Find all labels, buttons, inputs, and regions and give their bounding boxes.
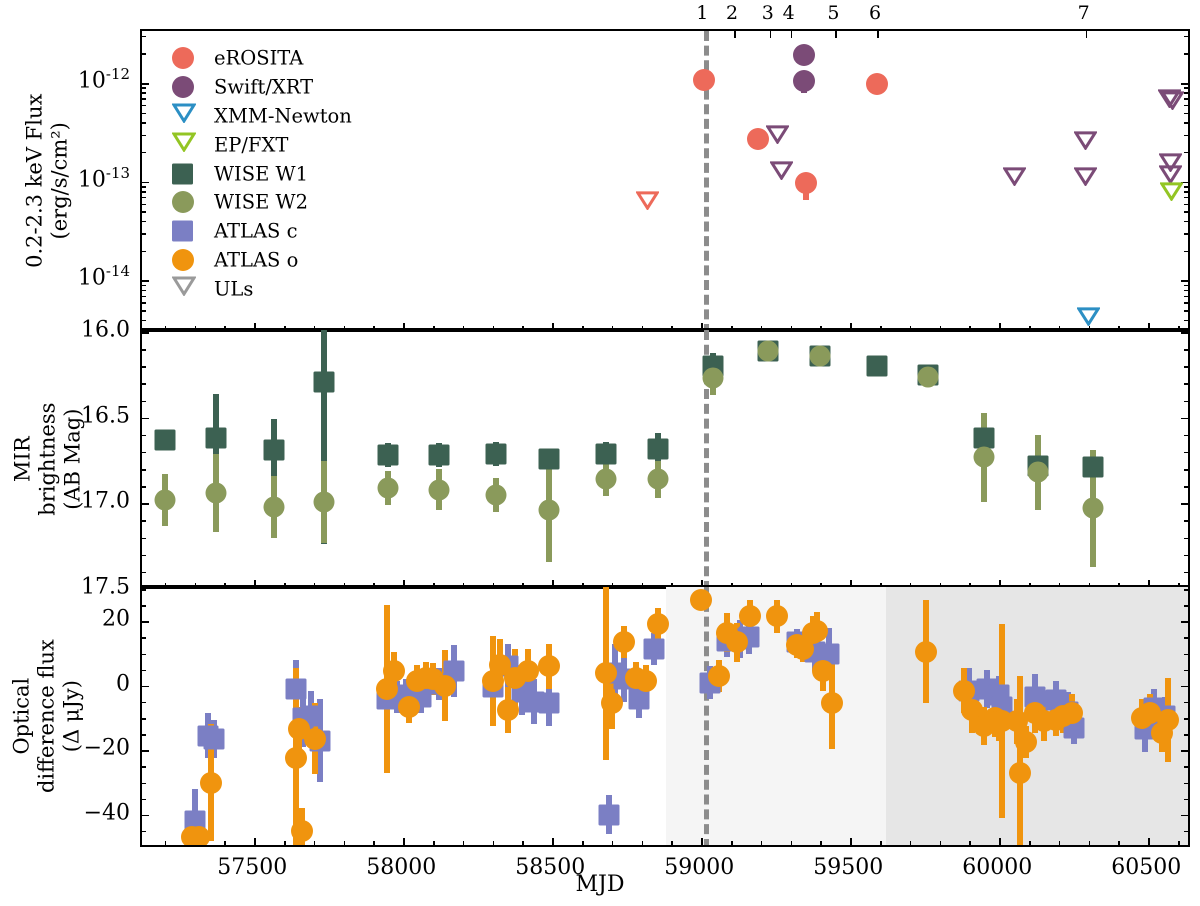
axis-tick (1148, 838, 1150, 845)
axis-tick (142, 113, 146, 115)
axis-tick (142, 36, 146, 38)
triangle-down-icon (172, 276, 198, 302)
axis-tick (142, 686, 149, 688)
axis-tick (1181, 686, 1188, 688)
axis-tick (770, 31, 772, 38)
wise-w1-data-point (648, 438, 669, 459)
axis-tick (142, 87, 146, 89)
axis-tick (1184, 637, 1188, 639)
xaxis-tick-label: 59500 (813, 855, 883, 880)
axis-tick (1184, 783, 1188, 785)
axis-tick (1184, 36, 1188, 38)
axis-tick (142, 435, 146, 437)
axis-tick (1184, 486, 1188, 488)
epoch-label: 6 (869, 2, 881, 24)
legend-item-label: Swift/XRT (214, 76, 313, 99)
axis-tick (999, 838, 1001, 845)
legend-item-label: ATLAS c (214, 220, 298, 243)
axis-tick (142, 555, 146, 557)
axis-tick (142, 702, 146, 704)
square-marker-icon (172, 221, 193, 242)
atlas-o-data-point (739, 605, 761, 627)
axis-tick (142, 332, 149, 334)
axis-tick (1184, 654, 1188, 656)
axis-tick (142, 233, 146, 235)
axis-tick (1184, 589, 1188, 591)
axis-tick (1184, 702, 1188, 704)
axis-tick (142, 572, 146, 574)
axis-tick (1184, 122, 1188, 124)
yaxis-tick-label: 16.0 (81, 318, 130, 343)
axis-tick (1184, 452, 1188, 454)
legend-item-label: eROSITA (214, 47, 303, 70)
yaxis-tick-label: −40 (84, 800, 130, 825)
axis-tick (142, 452, 146, 454)
triangle-down-icon (1003, 167, 1026, 186)
yaxis-label-line: MIR (10, 402, 35, 515)
axis-tick (880, 841, 882, 845)
epoch-label: 4 (783, 2, 795, 24)
axis-tick (791, 31, 793, 38)
axis-tick (1184, 435, 1188, 437)
axis-tick (1184, 233, 1188, 235)
axis-tick (1184, 53, 1188, 55)
atlas-c-data-point (598, 804, 619, 825)
xray-data-point (793, 70, 815, 92)
atlas-o-data-point (647, 613, 669, 635)
axis-tick (1181, 332, 1188, 334)
yaxis-label-optical: Opticaldifference flux(Δ μJy) (10, 639, 84, 793)
axis-tick (142, 53, 146, 55)
axis-tick (1184, 734, 1188, 736)
axis-tick (433, 841, 435, 845)
axis-tick (254, 838, 256, 845)
axis-tick (1184, 296, 1188, 298)
atlas-o-data-point (1009, 762, 1031, 784)
wise-w1-data-point (974, 428, 995, 449)
axis-tick (142, 152, 146, 154)
wise-w2-data-point (263, 496, 284, 517)
axis-tick (142, 383, 146, 385)
wise-w2-data-point (429, 479, 450, 500)
wise-w1-data-point (378, 445, 399, 466)
epoch-label: 2 (726, 2, 738, 24)
wise-w2-data-point (974, 447, 995, 468)
axis-tick (142, 469, 146, 471)
axis-tick (142, 503, 149, 505)
axis-tick (142, 310, 146, 312)
axis-tick (1184, 87, 1188, 89)
axis-tick (1184, 221, 1188, 223)
wise-w1-data-point (429, 445, 450, 466)
epoch-label: 7 (1078, 2, 1090, 24)
axis-tick (1181, 750, 1188, 752)
wise-w1-data-point (205, 428, 226, 449)
atlas-o-data-point (538, 655, 560, 677)
axis-tick (1184, 605, 1188, 607)
axis-tick (142, 366, 146, 368)
yaxis-tick-label: 17.0 (81, 489, 130, 514)
axis-tick (1086, 31, 1088, 38)
axis-tick (1184, 718, 1188, 720)
wise-w2-data-point (1028, 462, 1049, 483)
circle-marker-icon (172, 47, 194, 69)
xaxis-tick-label: 60000 (962, 855, 1032, 880)
axis-tick (731, 841, 733, 845)
axis-tick (142, 637, 146, 639)
yaxis-tick-label: 16.5 (81, 403, 130, 428)
axis-tick (493, 841, 495, 845)
atlas-o-data-point (434, 675, 456, 697)
triangle-down-icon (1074, 131, 1097, 150)
axis-tick (142, 280, 149, 282)
circle-marker-icon (172, 76, 194, 98)
atlas-o-data-point (1157, 709, 1179, 731)
triangle-down-icon (1077, 307, 1100, 326)
atlas-o-data-point (398, 696, 420, 718)
axis-tick (1181, 621, 1188, 623)
xray-data-point (795, 172, 817, 194)
axis-tick (165, 841, 167, 845)
axis-tick (403, 838, 405, 845)
axis-tick (142, 815, 149, 817)
yaxis-label-line: Optical (10, 639, 35, 793)
axis-tick (142, 750, 149, 752)
yaxis-label-line: difference flux (34, 639, 59, 793)
axis-tick (142, 621, 149, 623)
atlas-o-data-point (304, 728, 326, 750)
axis-tick (284, 841, 286, 845)
axis-tick (1184, 401, 1188, 403)
axis-tick (1181, 83, 1188, 85)
triangle-down-icon (172, 103, 198, 129)
yaxis-label-mir: MIRbrightness(AB Mag) (10, 402, 84, 515)
wise-w1-data-point (867, 356, 888, 377)
atlas-c-data-point (285, 678, 306, 699)
axis-tick (142, 799, 146, 801)
wise-w2-data-point (485, 484, 506, 505)
axis-tick (1184, 290, 1188, 292)
axis-tick (1184, 383, 1188, 385)
axis-tick (142, 766, 146, 768)
axis-tick (1181, 280, 1188, 282)
xaxis-tick-label: 57500 (217, 855, 287, 880)
axis-tick (1184, 191, 1188, 193)
axis-tick (314, 841, 316, 845)
atlas-c-data-point (204, 728, 225, 749)
wise-w2-data-point (1083, 498, 1104, 519)
axis-tick (791, 841, 793, 845)
atlas-o-data-point (497, 699, 519, 721)
axis-tick (142, 302, 146, 304)
axis-tick (142, 670, 146, 672)
axis-tick (142, 211, 146, 213)
panel-optical-flux (140, 585, 1190, 847)
axis-tick (552, 838, 554, 845)
atlas-o-data-point (188, 826, 210, 847)
axis-tick (142, 718, 146, 720)
circle-marker-icon (172, 191, 194, 213)
triangle-down-icon (172, 132, 198, 158)
yaxis-label-xray: 0.2-2.3 keV Flux(erg/s/cm²) (22, 93, 72, 267)
atlas-o-data-point (1061, 702, 1083, 724)
axis-tick (142, 654, 146, 656)
axis-tick (1181, 503, 1188, 505)
atlas-o-data-point (766, 605, 788, 627)
legend-item-label: EP/FXT (214, 133, 288, 156)
yaxis-tick-label: 17.5 (81, 575, 130, 600)
wise-w1-data-point (539, 448, 560, 469)
wise-w1-data-point (263, 440, 284, 461)
axis-tick (142, 605, 146, 607)
wise-w1-data-point (1083, 457, 1104, 478)
legend-item-label: XMM-Newton (214, 104, 352, 127)
axis-tick (969, 841, 971, 845)
epoch-label: 5 (827, 2, 839, 24)
triangle-down-icon (766, 125, 789, 144)
yaxis-label-line: 0.2-2.3 keV Flux (22, 93, 47, 267)
axis-tick (1178, 841, 1180, 845)
axis-tick (142, 418, 149, 420)
axis-tick (522, 841, 524, 845)
axis-tick (1089, 841, 1091, 845)
wise-w2-data-point (314, 491, 335, 512)
axis-tick (671, 841, 673, 845)
axis-tick (1184, 555, 1188, 557)
axis-tick (1184, 186, 1188, 188)
axis-tick (1184, 105, 1188, 107)
axis-tick (142, 831, 146, 833)
wise-w2-data-point (648, 469, 669, 490)
axis-tick (582, 841, 584, 845)
axis-tick (734, 31, 736, 38)
wise-w1-data-point (314, 371, 335, 392)
yaxis-tick-label: 10-13 (78, 167, 130, 192)
axis-tick (142, 197, 146, 199)
axis-tick (1184, 113, 1188, 115)
epoch-marker-line (704, 587, 709, 847)
axis-tick (1184, 538, 1188, 540)
axis-tick (1184, 469, 1188, 471)
atlas-o-data-point (708, 665, 730, 687)
xray-data-point (866, 73, 888, 95)
axis-tick (142, 221, 146, 223)
axis-tick (142, 349, 146, 351)
axis-tick (1184, 152, 1188, 154)
axis-tick (1184, 98, 1188, 100)
axis-tick (142, 320, 146, 322)
yaxis-label-line: (erg/s/cm²) (47, 93, 72, 267)
axis-tick (344, 841, 346, 845)
wise-w1-data-point (485, 443, 506, 464)
axis-tick (142, 105, 146, 107)
atlas-o-data-point (726, 631, 748, 653)
axis-tick (224, 841, 226, 845)
axis-tick (1184, 520, 1188, 522)
wise-w2-data-point (595, 469, 616, 490)
xaxis-tick-label: 58000 (366, 855, 436, 880)
xaxis-tick-label: 58500 (515, 855, 585, 880)
atlas-o-data-point (595, 662, 617, 684)
wise-w2-data-point (917, 366, 938, 387)
triangle-down-icon (1160, 182, 1183, 201)
axis-tick (142, 486, 146, 488)
epoch-label: 1 (696, 2, 708, 24)
legend-item-label: WISE W1 (214, 162, 308, 185)
figure-canvas: 0.2-2.3 keV Flux(erg/s/cm²) MIRbrightnes… (0, 0, 1200, 906)
atlas-o-data-point (690, 589, 712, 611)
wise-w1-data-point (154, 429, 175, 450)
atlas-o-data-point (806, 620, 828, 642)
axis-tick (1184, 310, 1188, 312)
atlas-o-data-point (291, 820, 313, 842)
wise-w2-data-point (378, 477, 399, 498)
axis-tick (1184, 251, 1188, 253)
axis-tick (1184, 349, 1188, 351)
axis-tick (877, 31, 879, 38)
axis-tick (142, 182, 149, 184)
axis-tick (1184, 670, 1188, 672)
axis-tick (1118, 841, 1120, 845)
axis-tick (1181, 815, 1188, 817)
axis-tick (142, 83, 149, 85)
axis-tick (1184, 204, 1188, 206)
axis-tick (142, 191, 146, 193)
yaxis-tick-label: −20 (84, 736, 130, 761)
axis-tick (142, 589, 146, 591)
yaxis-tick-label: 0 (116, 671, 130, 696)
legend-item-label: WISE W2 (214, 191, 308, 214)
axis-tick (142, 98, 146, 100)
axis-tick (1184, 366, 1188, 368)
atlas-o-data-point (517, 660, 539, 682)
yaxis-tick-label: 20 (102, 607, 130, 632)
axis-tick (142, 290, 146, 292)
yaxis-tick-label: 10-12 (78, 68, 130, 93)
axis-tick (1184, 135, 1188, 137)
axis-tick (142, 285, 146, 287)
axis-tick (142, 401, 146, 403)
atlas-o-data-point (821, 692, 843, 714)
triangle-down-icon (1074, 167, 1097, 186)
axis-tick (463, 841, 465, 845)
axis-tick (142, 204, 146, 206)
atlas-o-data-point (383, 660, 405, 682)
axis-tick (142, 251, 146, 253)
atlas-o-data-point (812, 660, 834, 682)
yaxis-tick-label: 10-14 (78, 266, 130, 291)
axis-tick (1184, 211, 1188, 213)
axis-tick (1181, 418, 1188, 420)
axis-tick (612, 841, 614, 845)
axis-tick (940, 841, 942, 845)
axis-tick (1029, 841, 1031, 845)
axis-tick (142, 296, 146, 298)
epoch-label: 3 (762, 2, 774, 24)
axis-tick (1184, 302, 1188, 304)
axis-tick (142, 734, 146, 736)
triangle-down-icon (636, 191, 659, 210)
axis-tick (1184, 766, 1188, 768)
axis-tick (142, 783, 146, 785)
axis-tick (701, 838, 703, 845)
axis-tick (142, 186, 146, 188)
atlas-o-data-point (613, 631, 635, 653)
circle-marker-icon (172, 249, 194, 271)
axis-tick (142, 520, 146, 522)
wise-w2-data-point (539, 500, 560, 521)
axis-tick (1184, 285, 1188, 287)
xaxis-tick-label: 59000 (664, 855, 734, 880)
axis-tick (142, 135, 146, 137)
axis-tick (1184, 572, 1188, 574)
atlas-c-data-point (643, 638, 664, 659)
axis-tick (142, 92, 146, 94)
wise-w2-data-point (154, 489, 175, 510)
atlas-o-data-point (285, 747, 307, 769)
axis-tick (1184, 197, 1188, 199)
axis-tick (1184, 831, 1188, 833)
axis-tick (1059, 841, 1061, 845)
axis-tick (820, 841, 822, 845)
triangle-down-icon (1161, 91, 1184, 110)
axis-tick (1184, 92, 1188, 94)
wise-w2-data-point (703, 368, 724, 389)
wise-w2-data-point (758, 340, 779, 361)
axis-tick (1184, 799, 1188, 801)
axis-tick (142, 122, 146, 124)
atlas-o-data-point (635, 670, 657, 692)
axis-tick (850, 838, 852, 845)
legend-item-label: ULs (214, 277, 253, 300)
yaxis-label-line: brightness (35, 402, 60, 515)
legend-item-label: ATLAS o (214, 248, 298, 271)
xray-data-point (693, 69, 715, 91)
yaxis-label-line: (Δ μJy) (59, 639, 84, 793)
atlas-o-data-point (200, 772, 222, 794)
atlas-o-data-point (601, 692, 623, 714)
axis-tick (761, 841, 763, 845)
atlas-o-data-point (1015, 731, 1037, 753)
square-marker-icon (172, 163, 193, 184)
xaxis-tick-label: 60500 (1111, 855, 1181, 880)
axis-tick (1184, 320, 1188, 322)
triangle-down-icon (770, 161, 793, 180)
atlas-c-data-point (539, 693, 560, 714)
wise-w2-data-point (205, 483, 226, 504)
panel-mir-brightness (140, 328, 1190, 589)
axis-tick (642, 841, 644, 845)
wise-w2-data-point (810, 345, 831, 366)
wise-w1-data-point (595, 443, 616, 464)
axis-tick (910, 841, 912, 845)
atlas-o-data-point (915, 641, 937, 663)
axis-tick (142, 538, 146, 540)
axis-tick (373, 841, 375, 845)
axis-tick (835, 31, 837, 38)
xray-data-point (793, 44, 815, 66)
